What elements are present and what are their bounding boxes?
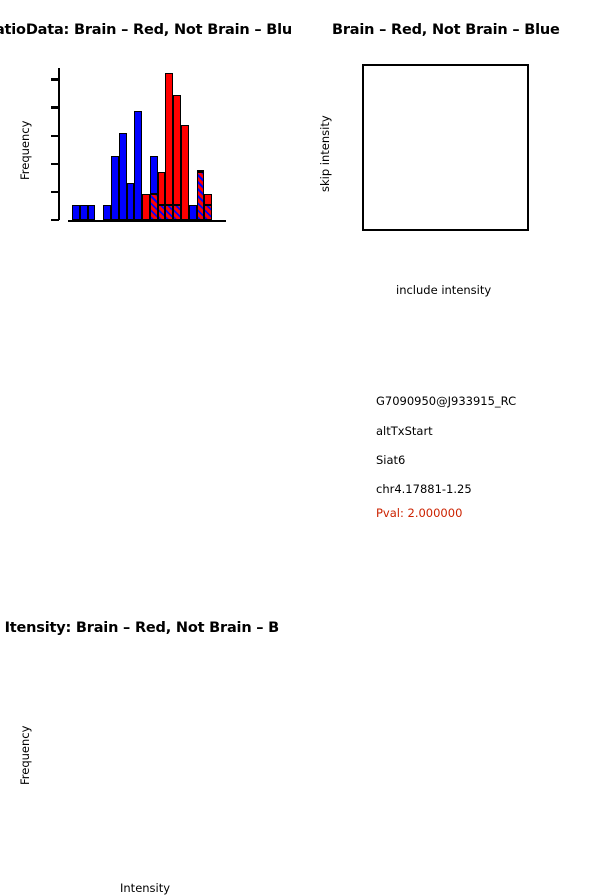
scatter-plot-area <box>362 64 529 231</box>
hist-intensity-title: ne Itensity: Brain – Red, Not Brain – B <box>0 620 279 636</box>
hist-ratio-ytick <box>51 163 59 165</box>
scatter-xlabel: include intensity <box>396 283 491 297</box>
bar-ratio-15-blue <box>189 205 197 220</box>
bar-ratio-8-blue <box>134 111 142 220</box>
hist-intensity-ylabel: Frequency <box>18 726 32 785</box>
info-line-gene: Siat6 <box>376 453 405 467</box>
info-line-event: altTxStart <box>376 424 433 438</box>
hist-intensity-plot-area <box>74 670 226 822</box>
bar-ratio-7-blue <box>127 183 135 220</box>
hist-ratio-ytick <box>51 191 59 193</box>
scatter-ylabel: skip intensity <box>318 115 332 192</box>
bar-ratio-13-overlap <box>173 205 181 220</box>
bar-ratio-0-blue <box>72 205 80 220</box>
bar-ratio-2-blue <box>88 205 96 220</box>
panel-hist-intensity: ne Itensity: Brain – Red, Not Brain – B … <box>0 300 300 600</box>
scatter-title: Brain – Red, Not Brain – Blue <box>332 22 560 38</box>
bar-ratio-17-top <box>204 194 212 206</box>
hist-ratio-ylabel: Frequency <box>18 121 32 180</box>
bar-ratio-12-overlap <box>165 205 173 220</box>
bar-ratio-10-top <box>150 156 158 193</box>
bar-ratio-10-overlap <box>150 194 158 220</box>
panel-hist-ratio: RatioData: Brain – Red, Not Brain – Blu … <box>0 0 300 300</box>
bar-ratio-11-top <box>158 172 166 205</box>
bar-ratio-11-overlap <box>158 205 166 220</box>
bar-ratio-1-blue <box>80 205 88 220</box>
bar-ratio-9-red <box>142 194 150 220</box>
hist-ratio-title: RatioData: Brain – Red, Not Brain – Blu <box>0 22 292 38</box>
bar-ratio-4-blue <box>103 205 111 220</box>
bar-ratio-17-overlap <box>204 205 212 220</box>
info-line-probe: G7090950@J933915_RC <box>376 394 516 408</box>
bar-ratio-16-overlap <box>197 172 205 220</box>
panel-scatter: Brain – Red, Not Brain – Blue skip inten… <box>300 0 600 300</box>
hist-intensity-xlabel: Intensity <box>120 881 170 895</box>
bar-ratio-13-top <box>173 95 181 205</box>
hist-ratio-ytick <box>51 219 59 221</box>
bar-ratio-6-blue <box>119 133 127 220</box>
info-line-locus: chr4.17881-1.25 <box>376 482 472 496</box>
bar-ratio-14-red <box>181 125 189 220</box>
bar-ratio-12-top <box>165 73 173 206</box>
hist-ratio-ytick <box>51 106 59 108</box>
info-panel: G7090950@J933915_RC altTxStart Siat6 chr… <box>364 366 537 528</box>
hist-ratio-ytick <box>51 135 59 137</box>
hist-ratio-plot-area <box>72 68 220 220</box>
hist-ratio-yspine <box>58 68 60 220</box>
info-panel-background <box>364 366 537 528</box>
bar-ratio-5-blue <box>111 156 119 220</box>
info-line-pval: Pval: 2.000000 <box>376 506 462 520</box>
hist-ratio-ytick <box>51 78 59 80</box>
hist-ratio-baseline <box>68 220 226 222</box>
